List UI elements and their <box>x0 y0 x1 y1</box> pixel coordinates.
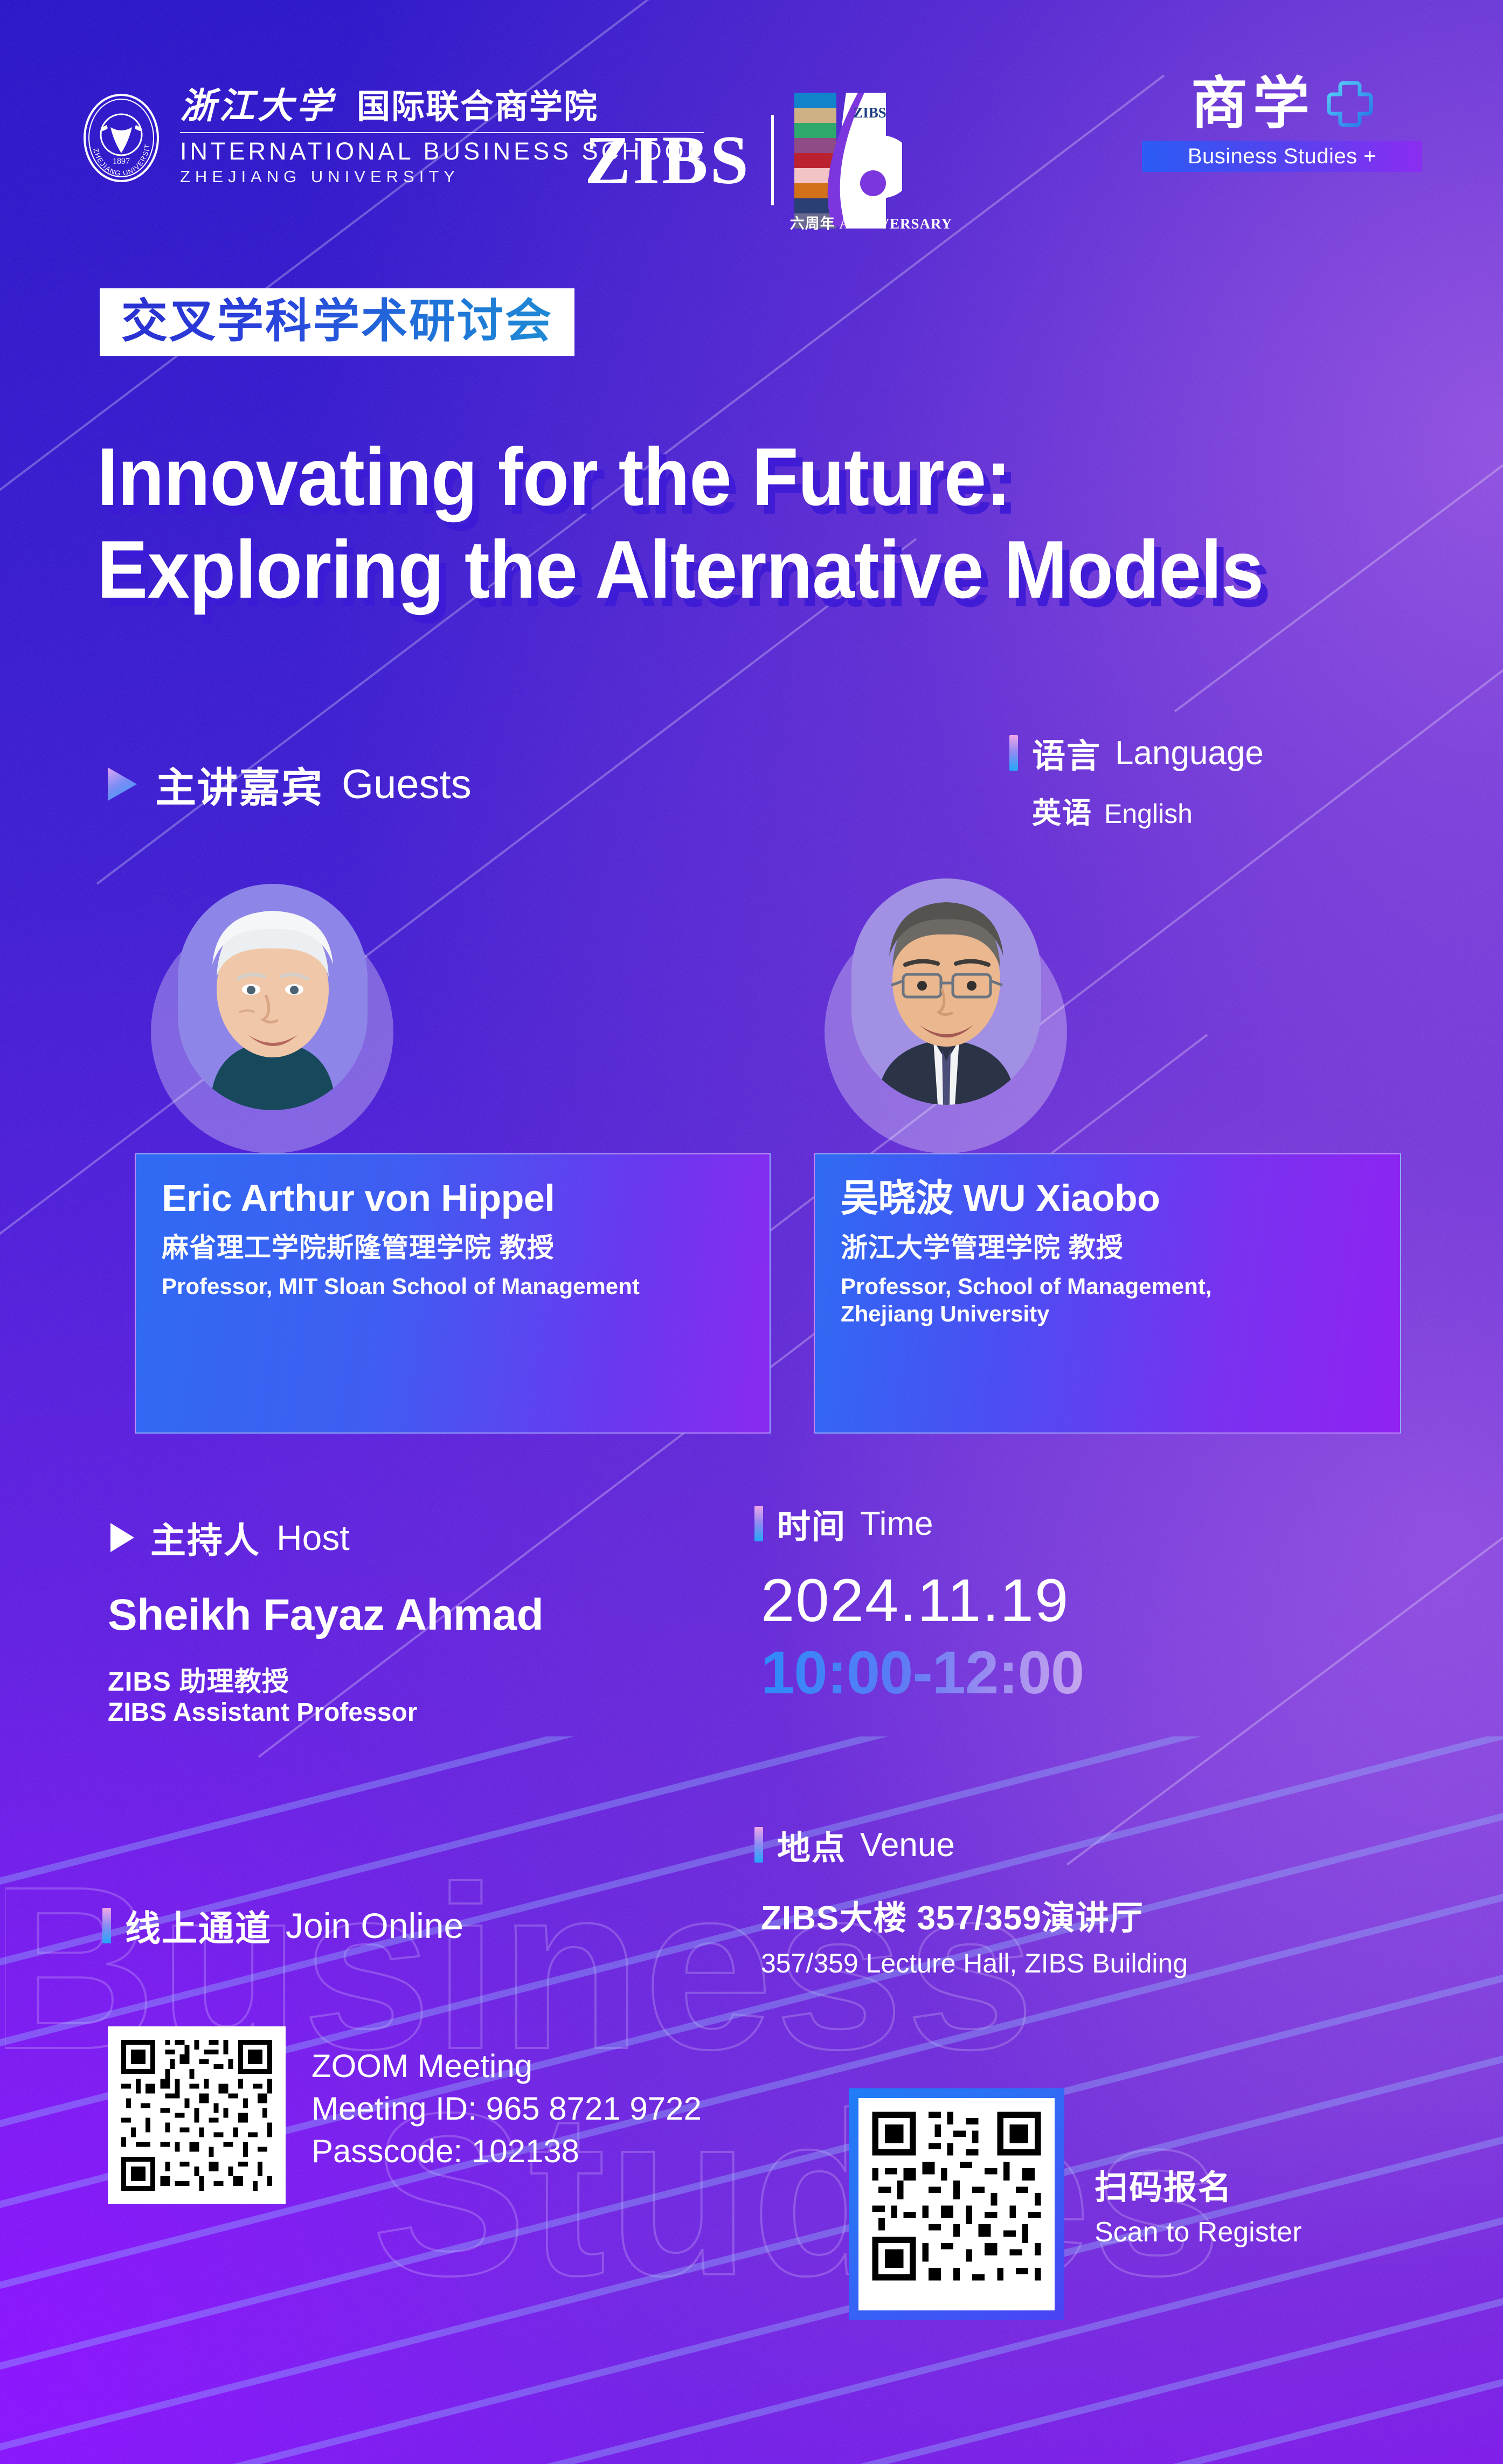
register-row: 扫码报名 Scan to Register <box>849 2088 1301 2320</box>
section-accent-bar <box>754 1827 763 1863</box>
host-title-cn: ZIBS 助理教授 <box>108 1660 289 1699</box>
language-heading-en: Language <box>1115 734 1264 772</box>
anniversary-zibs-label: ZIBS <box>853 105 886 121</box>
ibs-name-cn: 国际联合商学院 <box>357 91 598 124</box>
language-section: 语言 Language 英语 English <box>1009 729 1264 832</box>
register-qr-frame[interactable] <box>849 2088 1064 2320</box>
logo-vertical-divider <box>771 115 774 205</box>
plus-cross-icon <box>1327 81 1373 127</box>
speaker-affiliation-cn-1: 麻省理工学院斯隆管理学院 教授 <box>162 1233 744 1263</box>
host-name: Sheikh Fayaz Ahmad <box>108 1590 543 1641</box>
register-qr-matrix <box>866 2106 1047 2287</box>
business-studies-en-bar: Business Studies + <box>1142 141 1422 172</box>
zoom-meeting-id: Meeting ID: 965 8721 9722 <box>311 2087 702 2130</box>
guests-heading-en: Guests <box>342 761 472 808</box>
business-studies-cn: 商学 <box>1191 75 1315 132</box>
join-online-heading-en: Join Online <box>286 1905 463 1946</box>
time-heading-en: Time <box>860 1505 933 1543</box>
business-studies-plus-logo: 商学 Business Studies + <box>1142 75 1422 172</box>
register-label-en: Scan to Register <box>1095 2216 1301 2248</box>
host-heading-en: Host <box>276 1517 350 1558</box>
venue-heading-en: Venue <box>860 1826 955 1864</box>
anniversary-6-icon: ZIBS <box>794 91 902 230</box>
speaker-photo-2 <box>851 878 1041 1105</box>
guests-section-heading: 主讲嘉宾 Guests <box>108 755 472 814</box>
zoom-platform: ZOOM Meeting <box>311 2045 702 2087</box>
event-hours: 10:00-12:00 <box>761 1641 1084 1706</box>
speaker-info-card-2: 吴晓波 WU Xiaobo 浙江大学管理学院 教授 Professor, Sch… <box>814 1153 1401 1434</box>
speaker-photo-1 <box>178 884 368 1110</box>
play-triangle-icon <box>108 767 137 801</box>
time-section: 时间 Time 2024.11.19 10:00-12:00 <box>754 1499 1084 1706</box>
speaker-affiliation-en-2: Professor, School of Management, Zhejian… <box>841 1272 1374 1327</box>
speaker-name-1: Eric Arthur von Hippel <box>162 1179 744 1217</box>
zoom-details-row: ZOOM Meeting Meeting ID: 965 8721 9722 P… <box>108 2026 702 2204</box>
section-accent-bar <box>1009 735 1018 771</box>
zoom-qr-matrix <box>116 2035 277 2196</box>
host-section-heading: 主持人 Host <box>110 1512 350 1563</box>
zju-seal-icon: 1897 ZHEJIANG UNIVERSITY <box>81 93 162 183</box>
title-line-2: Exploring the Alternative Models <box>97 524 1335 617</box>
seminar-type-label: 交叉学科学术研讨会 <box>121 295 553 347</box>
host-heading-cn: 主持人 <box>150 1512 260 1563</box>
anniversary-badge: ZIBS 六周年 ANNIVERSARY <box>794 91 902 230</box>
zoom-info: ZOOM Meeting Meeting ID: 965 8721 9722 P… <box>311 2026 702 2173</box>
speaker-card-2: 吴晓波 WU Xiaobo 浙江大学管理学院 教授 Professor, Sch… <box>814 862 1401 1434</box>
host-title-en: ZIBS Assistant Professor <box>108 1698 417 1727</box>
event-poster: Business Studies 1897 <box>0 0 1503 2464</box>
join-online-heading-cn: 线上通道 <box>125 1900 272 1951</box>
register-label: 扫码报名 Scan to Register <box>1095 2160 1301 2248</box>
zoom-qr-code[interactable] <box>108 2026 286 2204</box>
title-line-1: Innovating for the Future: <box>97 431 1335 524</box>
zibs-logo-lockup: ZIBS ZIBS <box>585 91 902 230</box>
anniversary-caption: 六周年 ANNIVERSARY <box>790 212 914 233</box>
venue-name-en: 357/359 Lecture Hall, ZIBS Building <box>761 1948 1188 1979</box>
speaker-card-1: Eric Arthur von Hippel 麻省理工学院斯隆管理学院 教授 P… <box>135 873 771 1434</box>
zoom-passcode: Passcode: 102138 <box>311 2130 702 2172</box>
language-value-cn: 英语 <box>1032 789 1092 832</box>
language-value-en: English <box>1104 798 1193 829</box>
join-online-section: 线上通道 Join Online <box>102 1900 463 1951</box>
language-heading-cn: 语言 <box>1032 729 1101 777</box>
event-date: 2024.11.19 <box>761 1570 1084 1631</box>
speaker-info-card-1: Eric Arthur von Hippel 麻省理工学院斯隆管理学院 教授 P… <box>135 1153 771 1434</box>
page-title: Innovating for the Future: Exploring the… <box>97 431 1335 617</box>
venue-heading-cn: 地点 <box>777 1821 846 1869</box>
svg-text:1897: 1897 <box>113 157 130 166</box>
section-accent-bar <box>754 1506 763 1541</box>
speaker-affiliation-en-1: Professor, MIT Sloan School of Managemen… <box>162 1272 744 1300</box>
speaker-name-2: 吴晓波 WU Xiaobo <box>841 1179 1374 1217</box>
venue-name-cn: ZIBS大楼 357/359演讲厅 <box>761 1891 1188 1939</box>
zju-name-cn: 浙江大学 <box>180 89 335 124</box>
play-triangle-icon <box>110 1523 134 1552</box>
speaker-affiliation-cn-2: 浙江大学管理学院 教授 <box>841 1233 1374 1263</box>
time-heading-cn: 时间 <box>777 1499 846 1548</box>
register-label-cn: 扫码报名 <box>1095 2160 1301 2209</box>
seminar-type-badge: 交叉学科学术研讨会 <box>100 288 574 356</box>
venue-section: 地点 Venue ZIBS大楼 357/359演讲厅 357/359 Lectu… <box>754 1821 1188 1979</box>
section-accent-bar <box>102 1908 111 1943</box>
zibs-wordmark: ZIBS <box>585 126 751 195</box>
business-studies-en: Business Studies + <box>1188 144 1376 169</box>
guests-heading-cn: 主讲嘉宾 <box>155 755 323 814</box>
